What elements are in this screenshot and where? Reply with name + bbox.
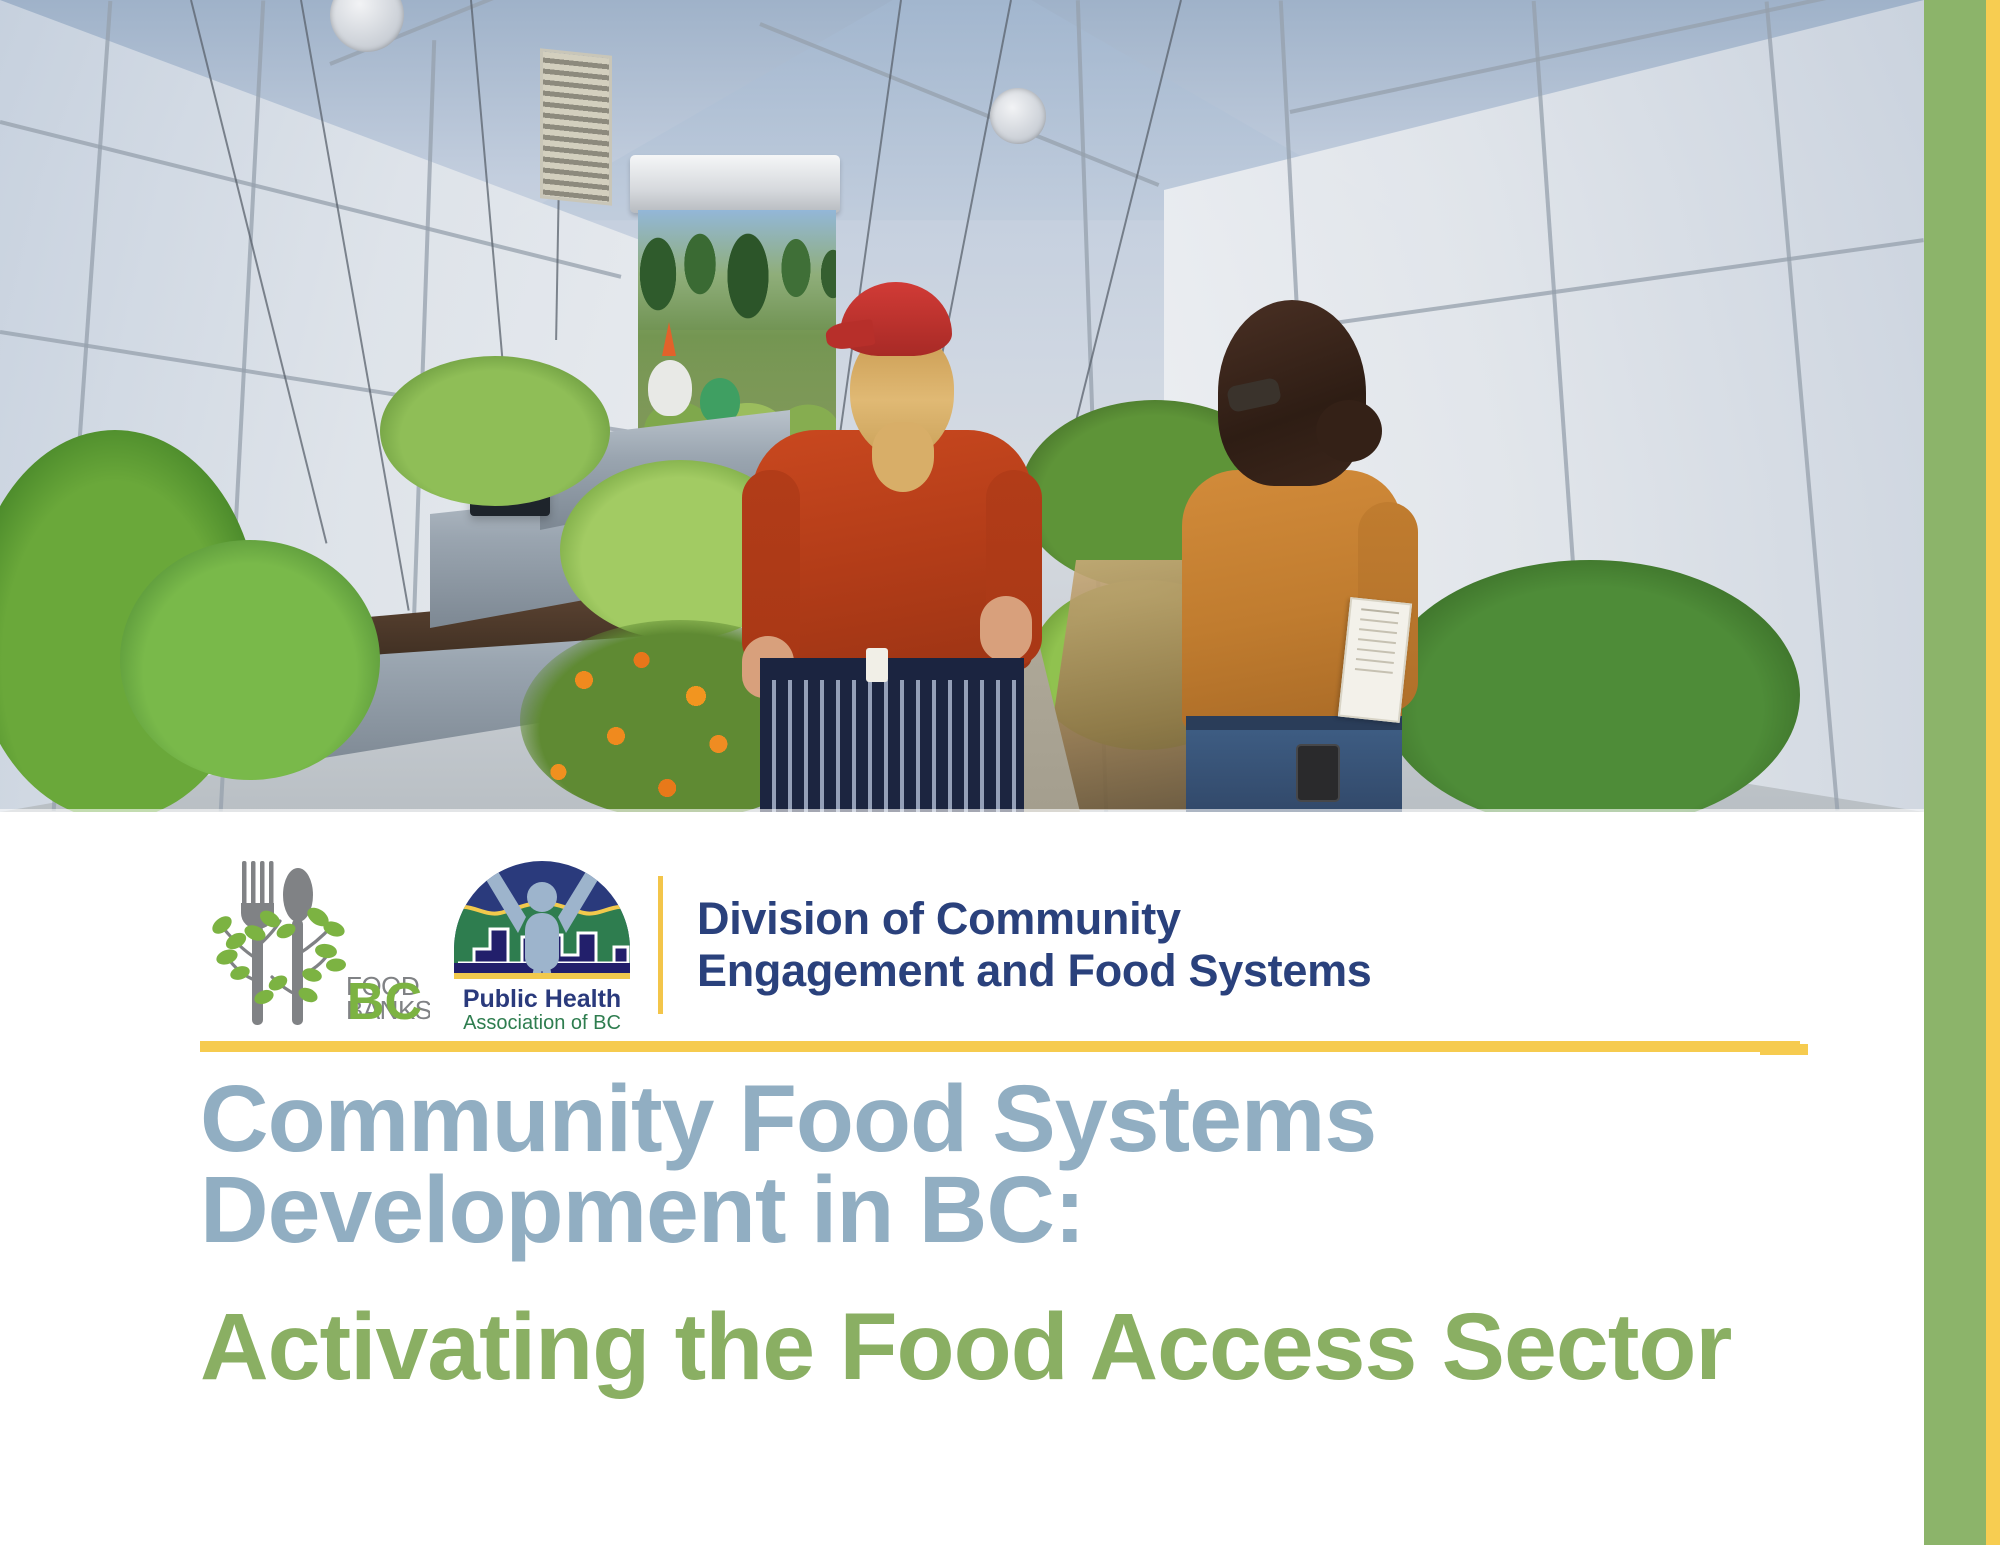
right-edge-green-bar [1924, 0, 1986, 1545]
foliage-herbs [380, 356, 610, 506]
phabc-line1: Public Health [463, 985, 621, 1013]
vertical-divider [658, 876, 663, 1014]
food-banks-bc-logo: FOOD BANKS BC [200, 855, 430, 1035]
phone-in-pocket [1296, 744, 1340, 802]
apron-tag [866, 648, 888, 682]
foliage-right-bed [1380, 560, 1800, 812]
hair-bun [1316, 400, 1382, 462]
foliage-leafy-green [120, 540, 380, 780]
cover-page: FOOD BANKS BC [0, 0, 2000, 1545]
ceiling-fan-icon [990, 88, 1046, 144]
storage-tank [648, 360, 692, 416]
clipboard [1338, 597, 1412, 723]
page-subtitle: Activating the Food Access Sector [200, 1300, 1900, 1395]
yellow-horizontal-rule [200, 1041, 1800, 1052]
right-edge-yellow-bar [1986, 0, 2000, 1545]
greenhouse-doorway [638, 210, 836, 440]
photo-bottom-edge [0, 809, 1924, 812]
roll-up-door [630, 155, 840, 213]
foodbanks-abbrev: BC [347, 973, 422, 1031]
greenhouse-scene [0, 0, 1924, 812]
striped-apron [760, 660, 1024, 812]
page-title: Community Food Systems Development in BC… [200, 1074, 1840, 1256]
vent-louver [540, 48, 612, 206]
division-title: Division of Community Engagement and Foo… [697, 893, 1372, 997]
public-health-association-of-bc-logo: Public Health Association of BC [448, 855, 636, 1035]
phabc-line2: Association of BC [463, 1012, 621, 1034]
branding-row: FOOD BANKS BC [200, 850, 1800, 1040]
apron-waistband [760, 658, 1024, 680]
right-hand [980, 596, 1032, 662]
yellow-rule-cap [1760, 1044, 1808, 1055]
hero-photograph [0, 0, 1924, 812]
blue-jeans [1186, 718, 1402, 812]
